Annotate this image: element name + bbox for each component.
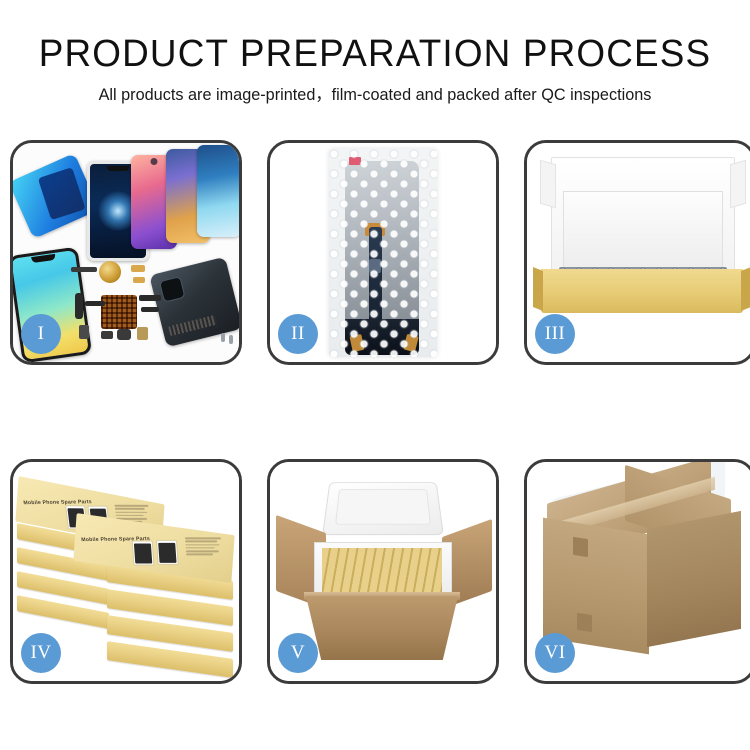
carton-side-face: [647, 511, 741, 647]
battery-strip: [168, 315, 217, 336]
step-panel-4: Mobile Phone Spare Parts: [10, 459, 242, 684]
yellow-boxes-inside: [322, 548, 442, 594]
vibration-motor-part: [99, 261, 121, 283]
step-panel-5: V: [267, 459, 499, 684]
flex-cable-2: [85, 301, 105, 306]
step-badge-3: III: [535, 314, 575, 354]
gold-flex-part-1: [131, 265, 145, 272]
step-badge-5: V: [278, 633, 318, 673]
step-badge-6: VI: [535, 633, 575, 673]
screw-part-2: [229, 335, 233, 344]
page-subtitle: All products are image-printed，film-coat…: [6, 84, 745, 106]
white-foam-sheet: [563, 191, 723, 271]
yellow-box-tray: [541, 269, 743, 313]
gold-bracket-part: [137, 327, 148, 340]
step-panel-3: III: [524, 140, 750, 365]
carton-body: [306, 596, 458, 660]
flex-cable-1: [75, 293, 83, 319]
styrofoam-lid: [322, 482, 444, 535]
flex-cable-4: [141, 307, 159, 312]
product-preparation-process-page: PRODUCT PREPARATION PROCESS All products…: [0, 0, 750, 750]
carton-tab-upper: [573, 537, 588, 557]
box-checklist-2: [185, 537, 228, 557]
camera-module-icon: [159, 276, 186, 303]
header: PRODUCT PREPARATION PROCESS All products…: [0, 0, 750, 106]
bubble-wrap-bag: [329, 149, 437, 357]
step-badge-4: IV: [21, 633, 61, 673]
step-panel-2: II: [267, 140, 499, 365]
speaker-part: [71, 267, 97, 272]
sim-tray-part: [79, 325, 89, 339]
box-phone-image-2a: [132, 540, 155, 565]
screw-part-1: [221, 333, 225, 342]
speaker-mesh-part: [117, 329, 131, 340]
step-badge-2: II: [278, 314, 318, 354]
bubble-texture-overlay: [329, 149, 437, 357]
teal-gradient-phone: [197, 145, 239, 237]
button-part: [101, 331, 113, 339]
connector-grid-part: [101, 295, 137, 329]
carton-tab-lower: [577, 613, 592, 632]
flex-cable-3: [139, 295, 161, 301]
process-steps-grid: I II: [10, 140, 740, 684]
step-panel-1: I: [10, 140, 242, 365]
gold-flex-part-2: [133, 277, 145, 283]
phone-back-housing: [149, 257, 239, 348]
page-title: PRODUCT PREPARATION PROCESS: [11, 32, 739, 76]
step-badge-1: I: [21, 314, 61, 354]
box-phone-image-2b: [156, 540, 179, 565]
step-panel-6: VI: [524, 459, 750, 684]
